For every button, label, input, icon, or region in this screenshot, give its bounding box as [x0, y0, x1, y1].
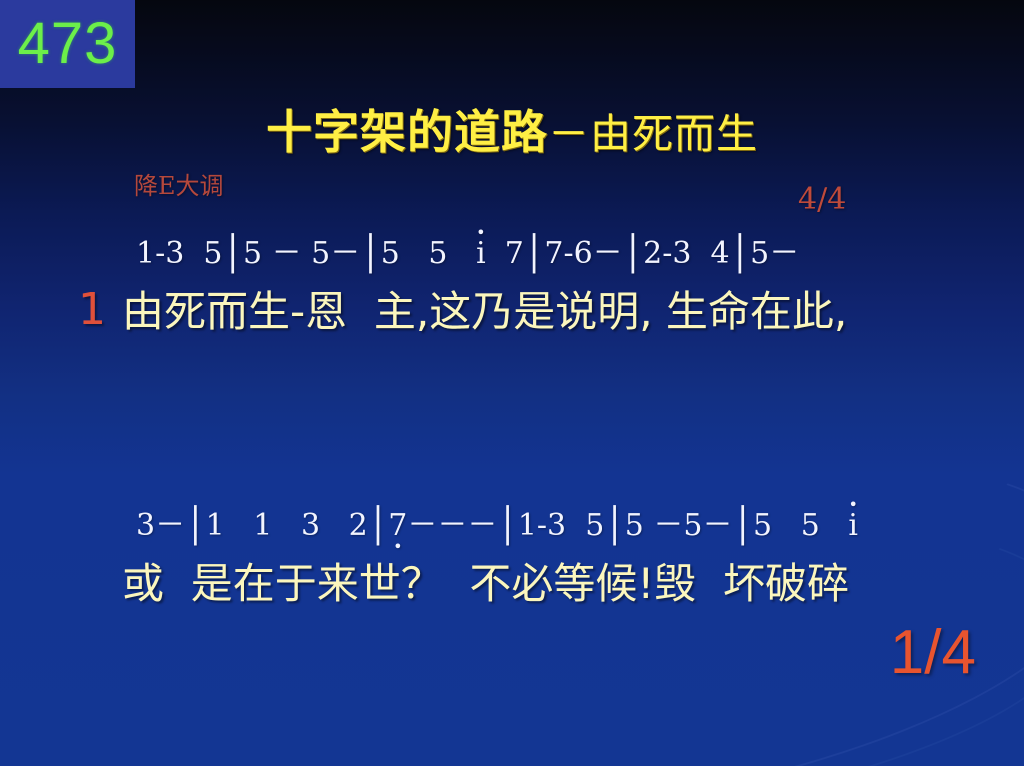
- music-body: 1 1-3 5│5 － 5－│5 5 i• 7│7-6－│2-3 4│5－ 由死…: [0, 228, 1024, 636]
- key-signature: 降E大调: [134, 166, 224, 201]
- barline: │: [360, 234, 380, 274]
- barline: │: [524, 234, 544, 274]
- lyrics-line: 由死而生-恩 主,这乃是说明, 生命在此,: [122, 278, 847, 339]
- hymn-number-badge: 473: [0, 0, 135, 88]
- staff-block: 1 1-3 5│5 － 5－│5 5 i• 7│7-6－│2-3 4│5－ 由死…: [0, 228, 1024, 364]
- staff-block: 3－│1 1 3 2│7•－－－│1-3 5│5 －5－│5 5 i• 或 是在…: [0, 364, 1024, 500]
- title-separator: －: [548, 110, 590, 158]
- barline: │: [730, 234, 750, 274]
- hymn-slide: 473 十字架的道路－由死而生 降E大调 4/4 1 1-3 5│5 － 5－│…: [0, 0, 1024, 766]
- note-high-do: i•: [476, 236, 486, 271]
- slide-title: 十字架的道路－由死而生: [0, 96, 1024, 162]
- time-signature: 4/4: [798, 182, 846, 217]
- hymn-number-text: 473: [18, 15, 118, 73]
- notation-line: 1-3 5│5 － 5－│5 5 i• 7│7-6－│2-3 4│5－: [136, 228, 799, 272]
- barline: │: [222, 234, 242, 274]
- octave-dot-high-icon: •: [476, 225, 485, 241]
- barline: │: [623, 234, 643, 274]
- title-subtitle-text: 由死而生: [590, 110, 758, 158]
- page-counter: 1/4: [890, 617, 976, 688]
- verse-number: 1: [78, 284, 106, 335]
- staff-block: 7│7-6 －│6-5 4│3 5 4 2│6•-7•－│1－ － －││ 的器…: [0, 500, 1024, 636]
- title-main-text: 十字架的道路: [266, 105, 548, 159]
